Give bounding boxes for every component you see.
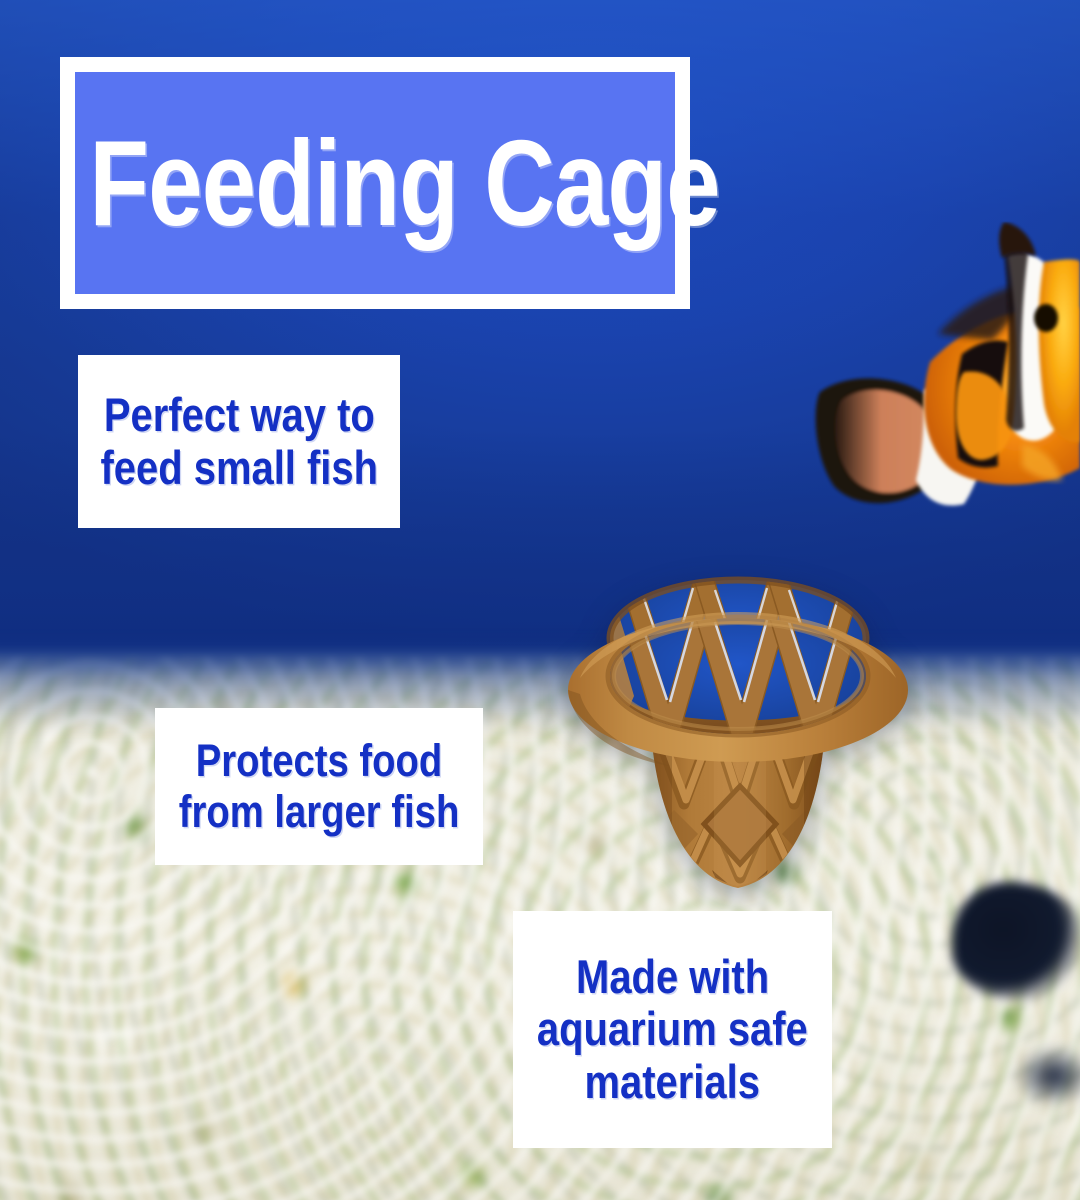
callout-line: Protects food	[196, 736, 443, 786]
clownfish-eye	[1034, 304, 1058, 332]
callout-perfect-way-to-feed-small-fish: Perfect way to feed small fish	[78, 355, 400, 528]
title-banner: Feeding Cage	[60, 57, 690, 309]
callout-line: aquarium safe	[537, 1003, 808, 1056]
callout-line: Made with	[576, 951, 769, 1004]
callout-line: Perfect way to	[104, 389, 375, 442]
callout-made-with-aquarium-safe-materials: Made with aquarium safe materials	[513, 911, 832, 1148]
product-marketing-image: Feeding Cage Perfect way to feed small f…	[0, 0, 1080, 1200]
title-banner-panel: Feeding Cage	[75, 72, 675, 294]
clownfish-dorsal-fin	[999, 222, 1036, 258]
callout-line: from larger fish	[179, 787, 460, 837]
callout-protects-food-from-larger-fish: Protects food from larger fish	[155, 708, 483, 865]
dark-rock-shadow	[952, 882, 1080, 1000]
page-title: Feeding Cage	[75, 122, 720, 244]
clownfish-image	[812, 222, 1080, 512]
feeding-cage-product	[528, 518, 948, 918]
callout-line: materials	[585, 1056, 760, 1109]
callout-line: feed small fish	[100, 442, 378, 495]
